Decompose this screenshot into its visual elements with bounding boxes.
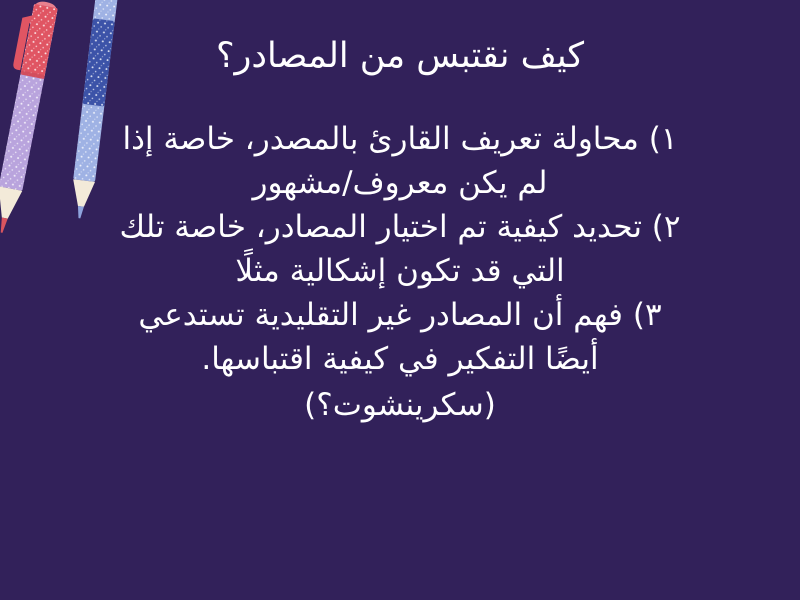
list-item-1-line-1: ١) محاولة تعريف القارئ بالمصدر، خاصة إذا: [0, 117, 800, 161]
slide-text-container: كيف نقتبس من المصادر؟ ١) محاولة تعريف ال…: [0, 0, 800, 600]
list-item-3-line-2: أيضًا التفكير في كيفية اقتباسها.: [0, 337, 800, 381]
list-item-1-line-2: لم يكن معروف/مشهور: [0, 161, 800, 205]
closing-note: (سكرينشوت؟): [0, 383, 800, 427]
list-item-3-line-1: ٣) فهم أن المصادر غير التقليدية تستدعي: [0, 293, 800, 337]
list-item-2-line-2: التي قد تكون إشكالية مثلًا: [0, 249, 800, 293]
slide-body-list: ١) محاولة تعريف القارئ بالمصدر، خاصة إذا…: [0, 117, 800, 427]
slide-canvas: كيف نقتبس من المصادر؟ ١) محاولة تعريف ال…: [0, 0, 800, 600]
page-title: كيف نقتبس من المصادر؟: [20, 34, 780, 79]
list-item-2-line-1: ٢) تحديد كيفية تم اختيار المصادر، خاصة ت…: [0, 205, 800, 249]
